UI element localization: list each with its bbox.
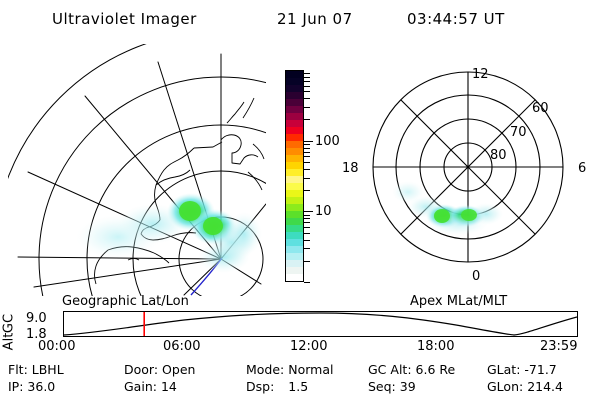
- alt-ytick-high: 9.0: [26, 312, 47, 325]
- geographic-map-panel[interactable]: [8, 44, 266, 296]
- mlt-label-6: 6: [578, 161, 586, 176]
- status-bar: Flt: LBHL Door: Open Mode: Normal GC Alt…: [0, 362, 600, 398]
- altitude-plot-box[interactable]: [63, 311, 578, 337]
- colorbar-minor-tick: [304, 148, 310, 149]
- colorbar-minor-tick: [304, 227, 310, 228]
- colorbar-minor-tick: [304, 190, 310, 191]
- colorbar-group: photon cm-2s-1 10010: [268, 62, 334, 288]
- colorbar-minor-tick: [304, 222, 310, 223]
- colorbar-minor-tick: [304, 98, 310, 99]
- colorbar-minor-tick: [304, 169, 310, 170]
- status-ip: IP: 36.0: [8, 379, 55, 394]
- alt-xtick-3: 18:00: [417, 340, 454, 353]
- colorbar-minor-tick: [304, 144, 310, 145]
- colorbar-minor-tick: [304, 73, 310, 74]
- colorbar-minor-tick: [304, 91, 310, 92]
- mlt-dial-panel[interactable]: 12 18 6 0 60 70 80: [336, 44, 594, 296]
- status-row-1: Flt: LBHL Door: Open Mode: Normal GC Alt…: [0, 362, 600, 378]
- mlat-label-60: 60: [532, 101, 549, 116]
- colorbar-minor-tick: [304, 86, 310, 87]
- status-dsp: Dsp: 1.5: [246, 379, 308, 394]
- mlt-panel-caption: Apex MLat/MLT: [410, 294, 507, 309]
- status-seq: Seq: 39: [368, 379, 416, 394]
- altitude-timeline[interactable]: Geographic Lat/Lon Apex MLat/MLT GC Alt …: [0, 296, 600, 356]
- status-row-2: IP: 36.0 Gain: 14 Dsp: 1.5 Seq: 39 GLon:…: [0, 379, 600, 395]
- colorbar-minor-tick: [304, 282, 310, 283]
- colorbar-minor-tick: [304, 81, 310, 82]
- colorbar-minor-tick: [304, 77, 310, 78]
- colorbar-major-tick: [304, 141, 313, 142]
- mlat-label-70: 70: [510, 125, 527, 140]
- colorbar-minor-tick: [304, 156, 310, 157]
- status-gcalt: GC Alt: 6.6 Re: [368, 362, 455, 377]
- observation-time: 03:44:57 UT: [407, 10, 505, 28]
- alt-xtick-0: 00:00: [38, 340, 75, 353]
- mlt-dial-svg: 12 18 6 0 60 70 80: [336, 44, 594, 296]
- colorbar-minor-tick: [304, 107, 310, 108]
- status-mode: Mode: Normal: [246, 362, 334, 377]
- geo-panel-caption: Geographic Lat/Lon: [62, 294, 189, 309]
- colorbar-minor-tick: [304, 233, 310, 234]
- status-gain: Gain: 14: [124, 379, 177, 394]
- alt-xtick-2: 12:00: [290, 340, 327, 353]
- colorbar-gradient: [286, 71, 303, 281]
- colorbar-minor-tick: [304, 119, 310, 120]
- page-title: Ultraviolet Imager: [52, 10, 197, 28]
- mlat-label-80: 80: [490, 148, 507, 163]
- altitude-curve: [64, 313, 577, 335]
- colorbar-major-tick: [304, 211, 313, 212]
- colorbar-minor-tick: [304, 240, 310, 241]
- colorbar-minor-tick: [304, 261, 310, 262]
- observation-date: 21 Jun 07: [277, 10, 353, 28]
- colorbar-minor-tick: [304, 215, 310, 216]
- header-bar: Ultraviolet Imager 21 Jun 07 03:44:57 UT: [0, 6, 600, 34]
- status-flt: Flt: LBHL: [8, 362, 64, 377]
- alt-ylabel-alt: Alt: [2, 327, 17, 357]
- aurora-emission-geo: [76, 193, 262, 273]
- altitude-curve-svg: [64, 312, 577, 336]
- status-door: Door: Open: [124, 362, 195, 377]
- geographic-map-svg: [8, 44, 266, 296]
- mlt-label-0: 0: [472, 269, 480, 284]
- status-glat: GLat: -71.7: [487, 362, 557, 377]
- mlt-axis-labels: 12 18 6 0 60 70 80: [342, 67, 586, 284]
- mlt-label-18: 18: [342, 161, 359, 176]
- mlt-label-12: 12: [472, 67, 489, 82]
- alt-xtick-4: 23:59: [540, 340, 577, 353]
- colorbar-minor-tick: [304, 218, 310, 219]
- colorbar-scale[interactable]: [285, 70, 304, 282]
- alt-xtick-1: 06:00: [163, 340, 200, 353]
- colorbar-minor-tick: [304, 162, 310, 163]
- status-glon: GLon: 214.4: [487, 379, 563, 394]
- colorbar-tick-label-1: 10: [315, 205, 332, 218]
- colorbar-minor-tick: [304, 152, 310, 153]
- colorbar-minor-tick: [304, 178, 310, 179]
- colorbar-minor-tick: [304, 248, 310, 249]
